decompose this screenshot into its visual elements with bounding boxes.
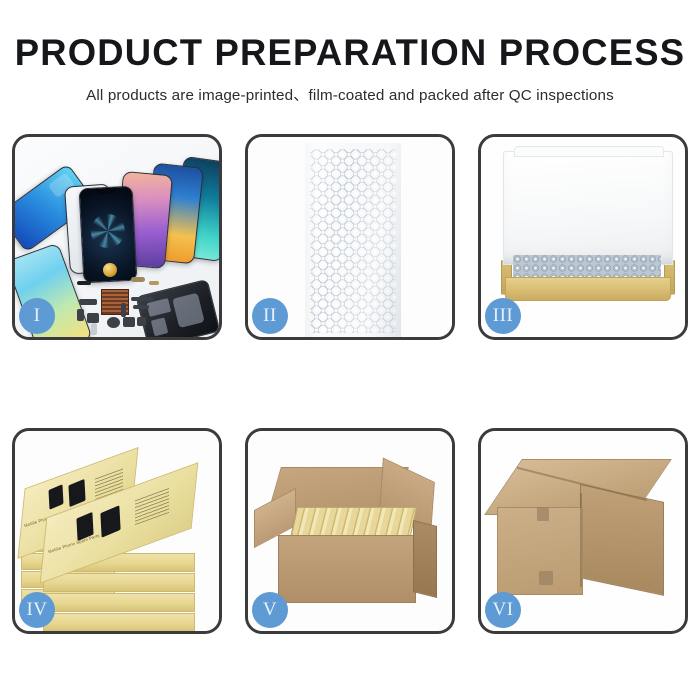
- page-title: PRODUCT PREPARATION PROCESS: [5, 34, 695, 71]
- spare-parts-cluster-icon: [77, 269, 173, 335]
- process-step-grid: I II III: [12, 134, 688, 634]
- process-step-panel-1[interactable]: I: [12, 134, 222, 340]
- stacked-box-item: [43, 573, 195, 592]
- process-step-panel-4[interactable]: Mobile Phone Spare Parts Mobile Phone Sp…: [12, 428, 222, 634]
- kraft-box-front-icon: [505, 277, 671, 301]
- carton-vertical-seam: [580, 493, 582, 587]
- process-step-panel-3[interactable]: III: [478, 134, 688, 340]
- stacked-box-item: [43, 593, 195, 612]
- stacked-box-item: [43, 613, 195, 631]
- bubble-wrap-inside-box-icon: [513, 255, 661, 279]
- carton-side-face-icon: [413, 520, 437, 598]
- speaker-mesh-icon: [103, 263, 117, 277]
- plastic-sheen-overlay: [305, 143, 401, 337]
- page-subtitle: All products are image-printed、film-coat…: [0, 83, 700, 105]
- step-badge-5: V: [252, 592, 288, 628]
- carton-tape-strip-lower: [539, 571, 553, 585]
- step-badge-4: IV: [19, 592, 55, 628]
- carton-tape-strip-upper: [537, 507, 549, 521]
- carton-front-face-icon: [278, 535, 416, 603]
- carton-right-face-icon: [580, 484, 664, 596]
- process-step-panel-2[interactable]: II: [245, 134, 455, 340]
- process-step-panel-6[interactable]: VI: [478, 428, 688, 634]
- process-step-panel-5[interactable]: V: [245, 428, 455, 634]
- step-badge-3: III: [485, 298, 521, 334]
- white-box-lid-icon: [503, 151, 673, 265]
- page-header: PRODUCT PREPARATION PROCESS All products…: [0, 0, 700, 105]
- step-badge-6: VI: [485, 592, 521, 628]
- step-badge-2: II: [252, 298, 288, 334]
- step-badge-1: I: [19, 298, 55, 334]
